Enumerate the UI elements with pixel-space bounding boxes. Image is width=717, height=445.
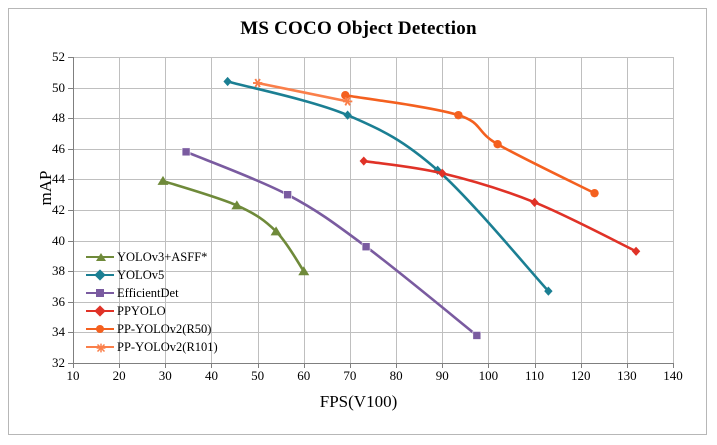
x-axis-tick-label: 50 [251, 368, 264, 384]
y-axis-tick-mark [68, 179, 73, 180]
chart-title: MS COCO Object Detection [0, 18, 717, 40]
data-point-marker [530, 198, 538, 207]
x-axis-tick-label: 120 [571, 368, 591, 384]
x-axis-tick-mark [488, 363, 489, 368]
y-axis-tick-mark [68, 332, 73, 333]
gridline-vertical [673, 57, 674, 363]
x-axis-tick-label: 60 [297, 368, 310, 384]
x-axis-tick-label: 140 [663, 368, 683, 384]
y-axis-tick-mark [68, 302, 73, 303]
y-axis-tick-label: 36 [25, 294, 65, 310]
legend-label: PP-YOLOv2(R50) [117, 322, 211, 337]
x-axis-tick-mark [165, 363, 166, 368]
legend-label: YOLOv5 [117, 268, 164, 283]
y-axis-tick-mark [68, 149, 73, 150]
chart-legend: YOLOv3+ASFF*YOLOv5EfficientDetPPYOLOPP-Y… [86, 248, 218, 356]
x-axis-tick-mark [211, 363, 212, 368]
x-axis-tick-mark [535, 363, 536, 368]
data-point-marker [632, 247, 640, 256]
data-point-marker [182, 148, 190, 156]
x-axis-tick-label: 90 [436, 368, 449, 384]
x-axis-tick-label: 100 [479, 368, 499, 384]
x-axis-tick-mark [258, 363, 259, 368]
x-axis-tick-label: 70 [343, 368, 356, 384]
x-axis-tick-label: 40 [205, 368, 218, 384]
x-axis-tick-mark [673, 363, 674, 368]
x-axis-tick-mark [119, 363, 120, 368]
y-axis-tick-mark [68, 241, 73, 242]
data-point-marker [158, 176, 169, 185]
x-axis-tick-mark [73, 363, 74, 368]
y-axis-tick-label: 50 [25, 80, 65, 96]
y-axis-tick-mark [68, 210, 73, 211]
y-axis-tick-label: 40 [25, 233, 65, 249]
data-point-marker [493, 140, 501, 148]
data-point-marker [590, 189, 598, 197]
y-axis-tick-mark [68, 88, 73, 89]
legend-marker-icon [86, 286, 114, 300]
x-axis-tick-label: 130 [617, 368, 637, 384]
x-axis-tick-label: 30 [159, 368, 172, 384]
x-axis-label: FPS(V100) [0, 392, 717, 412]
y-axis-tick-label: 38 [25, 263, 65, 279]
legend-label: PP-YOLOv2(R101) [117, 340, 218, 355]
legend-marker-icon [86, 322, 114, 336]
y-axis-tick-label: 42 [25, 202, 65, 218]
chart-screenshot: MS COCO Object Detection mAP FPS(V100) Y… [0, 0, 717, 445]
y-axis-line [73, 57, 74, 364]
data-point-marker [473, 331, 481, 339]
legend-marker-icon [86, 268, 114, 282]
legend-marker-icon [86, 304, 114, 318]
x-axis-tick-mark [581, 363, 582, 368]
series-line [364, 161, 636, 251]
x-axis-tick-mark [442, 363, 443, 368]
series-line [228, 81, 549, 291]
series-group [360, 156, 641, 255]
legend-label: EfficientDet [117, 286, 179, 301]
y-axis-tick-label: 34 [25, 324, 65, 340]
data-point-marker [223, 77, 231, 86]
legend-item[interactable]: PPYOLO [86, 302, 218, 320]
legend-marker-icon [86, 250, 114, 264]
x-axis-tick-label: 20 [113, 368, 126, 384]
y-axis-tick-label: 46 [25, 141, 65, 157]
x-axis-tick-label: 110 [525, 368, 544, 384]
legend-label: PPYOLO [117, 304, 166, 319]
x-axis-tick-mark [350, 363, 351, 368]
y-axis-tick-label: 44 [25, 171, 65, 187]
legend-item[interactable]: EfficientDet [86, 284, 218, 302]
data-point-marker [253, 79, 262, 87]
y-axis-tick-label: 48 [25, 110, 65, 126]
legend-label: YOLOv3+ASFF* [117, 250, 207, 265]
data-point-marker [360, 156, 368, 165]
data-point-marker [454, 111, 462, 119]
y-axis-tick-mark [68, 271, 73, 272]
x-axis-tick-mark [627, 363, 628, 368]
data-point-marker [343, 111, 351, 120]
legend-item[interactable]: PP-YOLOv2(R50) [86, 320, 218, 338]
legend-item[interactable]: YOLOv3+ASFF* [86, 248, 218, 266]
legend-item[interactable]: YOLOv5 [86, 266, 218, 284]
series-group [182, 148, 481, 340]
x-axis-tick-mark [396, 363, 397, 368]
series-line [345, 95, 594, 193]
data-point-marker [362, 243, 370, 251]
y-axis-tick-label: 32 [25, 355, 65, 371]
legend-item[interactable]: PP-YOLOv2(R101) [86, 338, 218, 356]
y-axis-tick-label: 52 [25, 49, 65, 65]
x-axis-line [73, 363, 674, 364]
x-axis-tick-mark [304, 363, 305, 368]
legend-marker-icon [86, 340, 114, 354]
y-axis-tick-mark [68, 118, 73, 119]
series-line [186, 152, 477, 336]
data-point-marker [284, 191, 292, 199]
y-axis-tick-mark [68, 57, 73, 58]
x-axis-tick-label: 10 [67, 368, 80, 384]
x-axis-tick-label: 80 [390, 368, 403, 384]
